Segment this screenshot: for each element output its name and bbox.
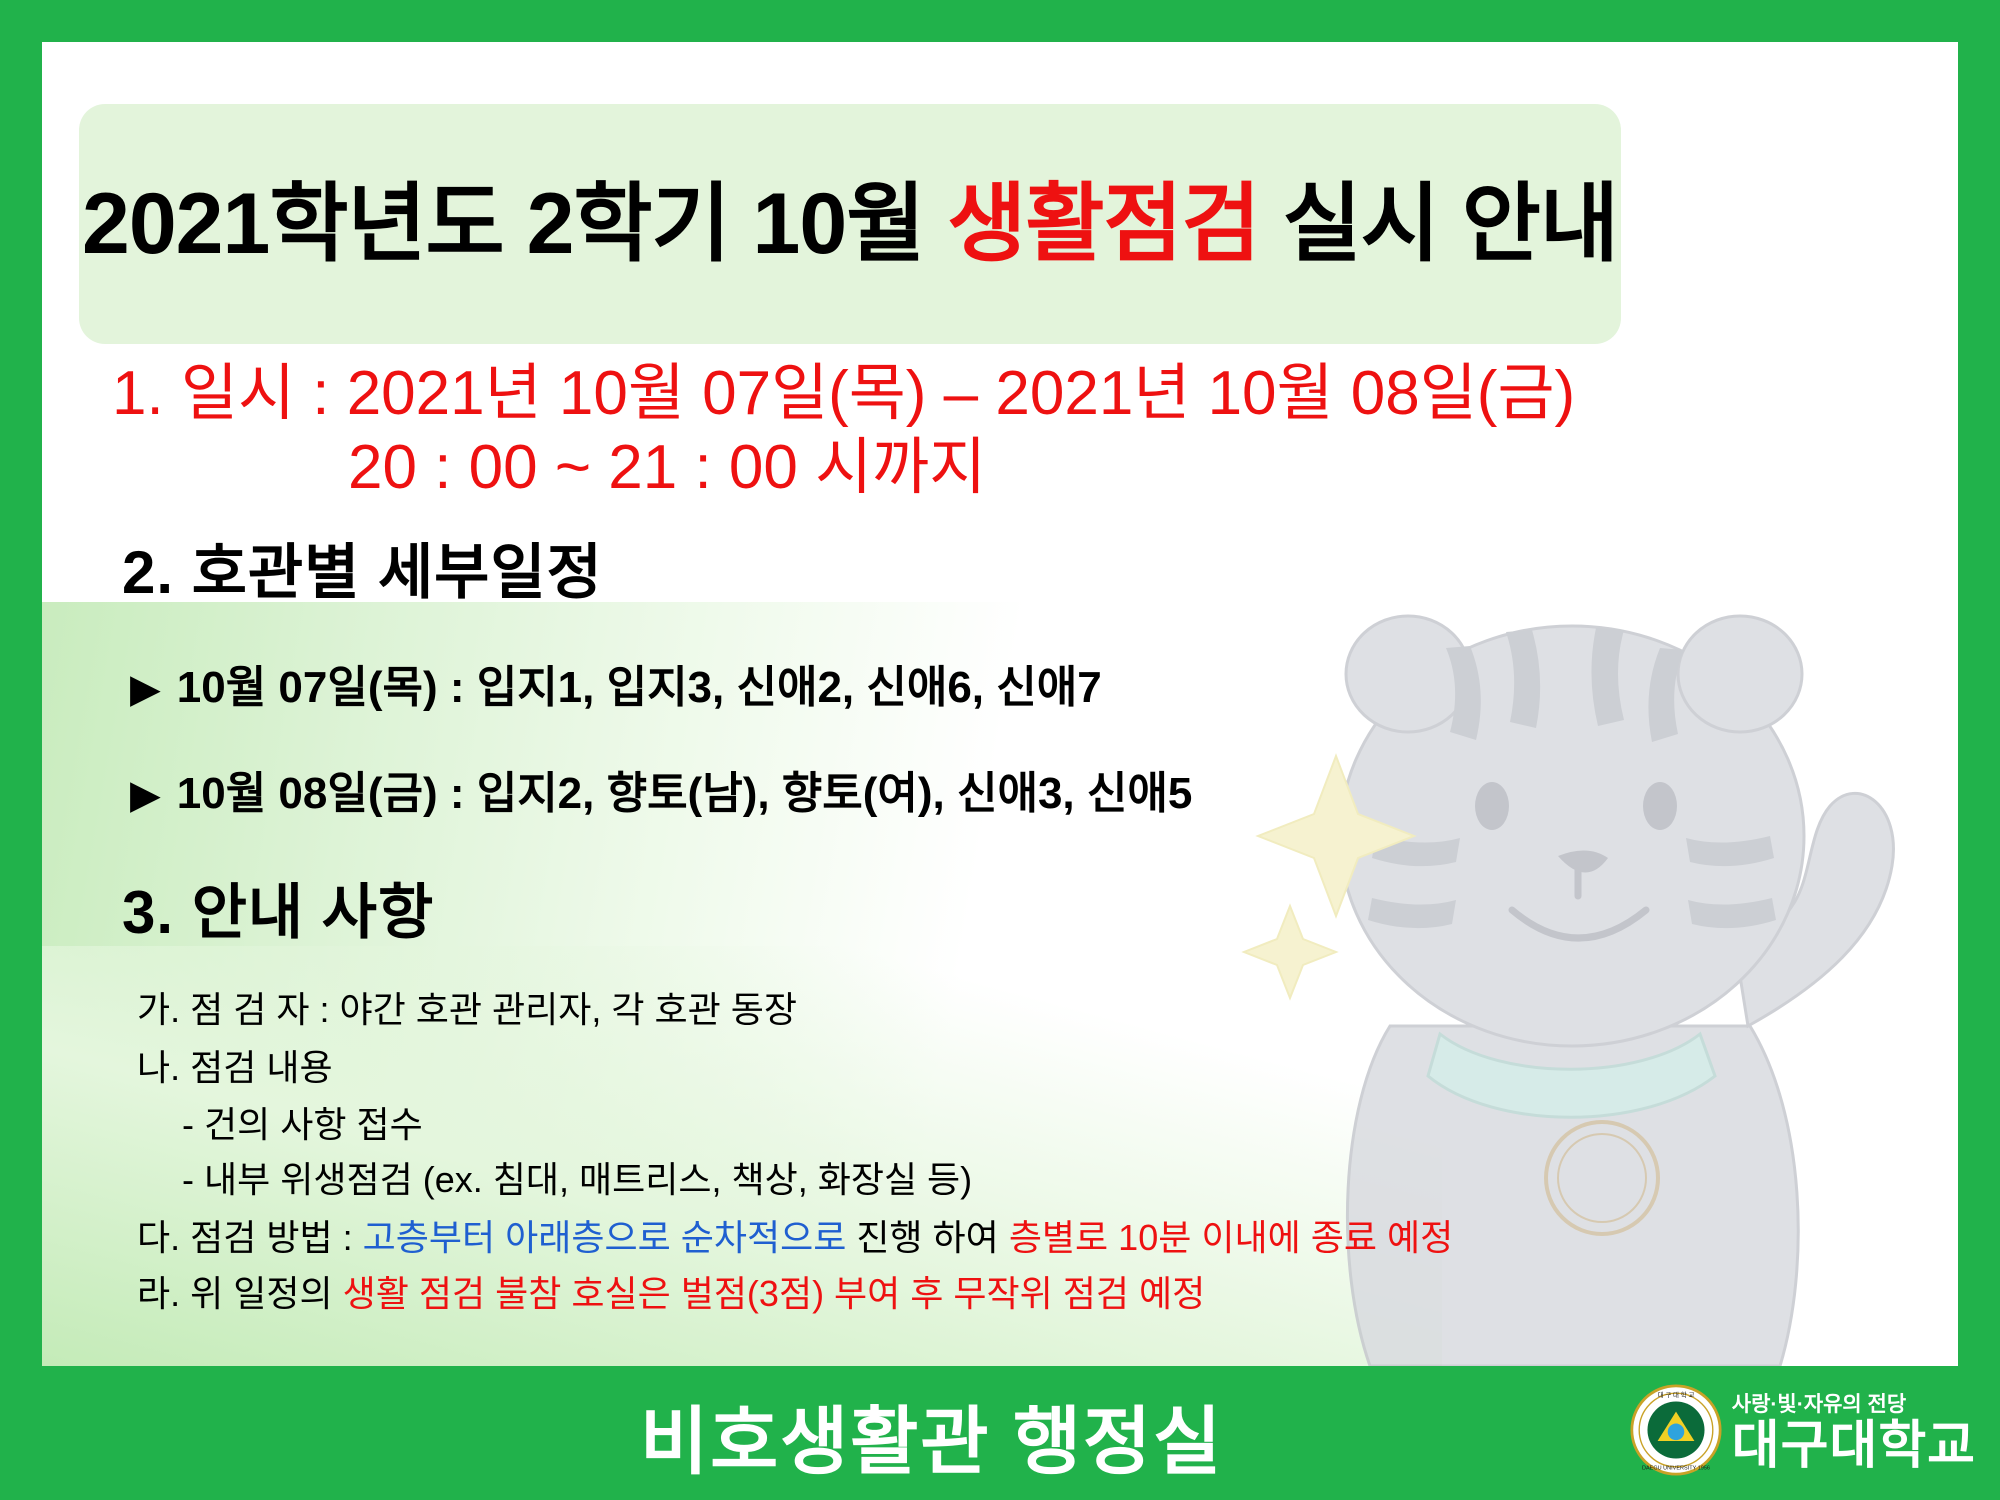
triangle-bullet-icon: ▶ <box>130 667 161 711</box>
university-seal-icon: 대 구 대 학 교 DAEGU UNIVERSITY 1956 <box>1630 1384 1722 1476</box>
section3-heading: 3. 안내 사항 <box>122 880 434 946</box>
poster-root: 2021학년도 2학기 10월 생활점검 실시 안내 1. 일시 : 2021년… <box>0 0 2000 1500</box>
logo-text-block: 사랑·빛·자유의 전당 대구대학교 <box>1732 1388 1976 1472</box>
penalty-prefix: 라. 위 일정의 <box>137 1273 343 1314</box>
footer-office-name: 비호생활관 행정실 <box>640 1382 1223 1489</box>
section3-item-penalty: 라. 위 일정의 생활 점검 불참 호실은 벌점(3점) 부여 후 무작위 점검… <box>137 1274 1205 1314</box>
method-middle: 진행 하여 <box>846 1217 1009 1258</box>
section2-heading: 2. 호관별 세부일정 <box>122 540 603 606</box>
section2-bullet-oct07: ▶10월 07일(목) : 입지1, 입지3, 신애2, 신애6, 신애7 <box>130 664 1102 712</box>
method-red-text: 층별로 10분 이내에 종료 예정 <box>1009 1217 1453 1258</box>
section3-item-contents-heading: 나. 점검 내용 <box>137 1048 333 1088</box>
footer-bar: 비호생활관 행정실 대 구 대 학 교 DAEGU UNIVERSITY 195… <box>0 1366 2000 1500</box>
section2-bullet-oct07-text: 10월 07일(목) : 입지1, 입지3, 신애2, 신애6, 신애7 <box>177 663 1102 712</box>
method-blue-text: 고층부터 아래층으로 순차적으로 <box>363 1217 847 1258</box>
body-content: 1. 일시 : 2021년 10월 07일(목) – 2021년 10월 08일… <box>42 42 1958 1366</box>
section2-bullet-oct08-text: 10월 08일(금) : 입지2, 향토(남), 향토(여), 신애3, 신애5 <box>177 769 1193 818</box>
logo-university-name: 대구대학교 <box>1732 1420 1976 1472</box>
university-logo: 대 구 대 학 교 DAEGU UNIVERSITY 1956 사랑·빛·자유의… <box>1630 1374 1976 1486</box>
triangle-bullet-icon: ▶ <box>130 773 161 817</box>
section1-schedule-line2: 20 : 00 ~ 21 : 00 시까지 <box>348 434 986 502</box>
penalty-red-text: 생활 점검 불참 호실은 벌점(3점) 부여 후 무작위 점검 예정 <box>343 1273 1206 1314</box>
content-panel: 2021학년도 2학기 10월 생활점검 실시 안내 1. 일시 : 2021년… <box>42 42 1958 1366</box>
method-prefix: 다. 점검 방법 : <box>137 1217 363 1258</box>
section3-item-method: 다. 점검 방법 : 고층부터 아래층으로 순차적으로 진행 하여 층별로 10… <box>137 1218 1453 1258</box>
section3-item-contents-sub2: - 내부 위생점검 (ex. 침대, 매트리스, 책상, 화장실 등) <box>182 1160 972 1200</box>
svg-text:DAEGU UNIVERSITY 1956: DAEGU UNIVERSITY 1956 <box>1642 1466 1710 1472</box>
logo-tagline: 사랑·빛·자유의 전당 <box>1732 1388 1976 1418</box>
section2-bullet-oct08: ▶10월 08일(금) : 입지2, 향토(남), 향토(여), 신애3, 신애… <box>130 770 1192 818</box>
section1-schedule-line1: 1. 일시 : 2021년 10월 07일(목) – 2021년 10월 08일… <box>112 360 1575 428</box>
section3-item-contents-sub1: - 건의 사항 접수 <box>182 1105 423 1145</box>
section3-item-inspector: 가. 점 검 자 : 야간 호관 관리자, 각 호관 동장 <box>137 990 797 1030</box>
svg-text:대 구 대 학 교: 대 구 대 학 교 <box>1657 1390 1694 1399</box>
